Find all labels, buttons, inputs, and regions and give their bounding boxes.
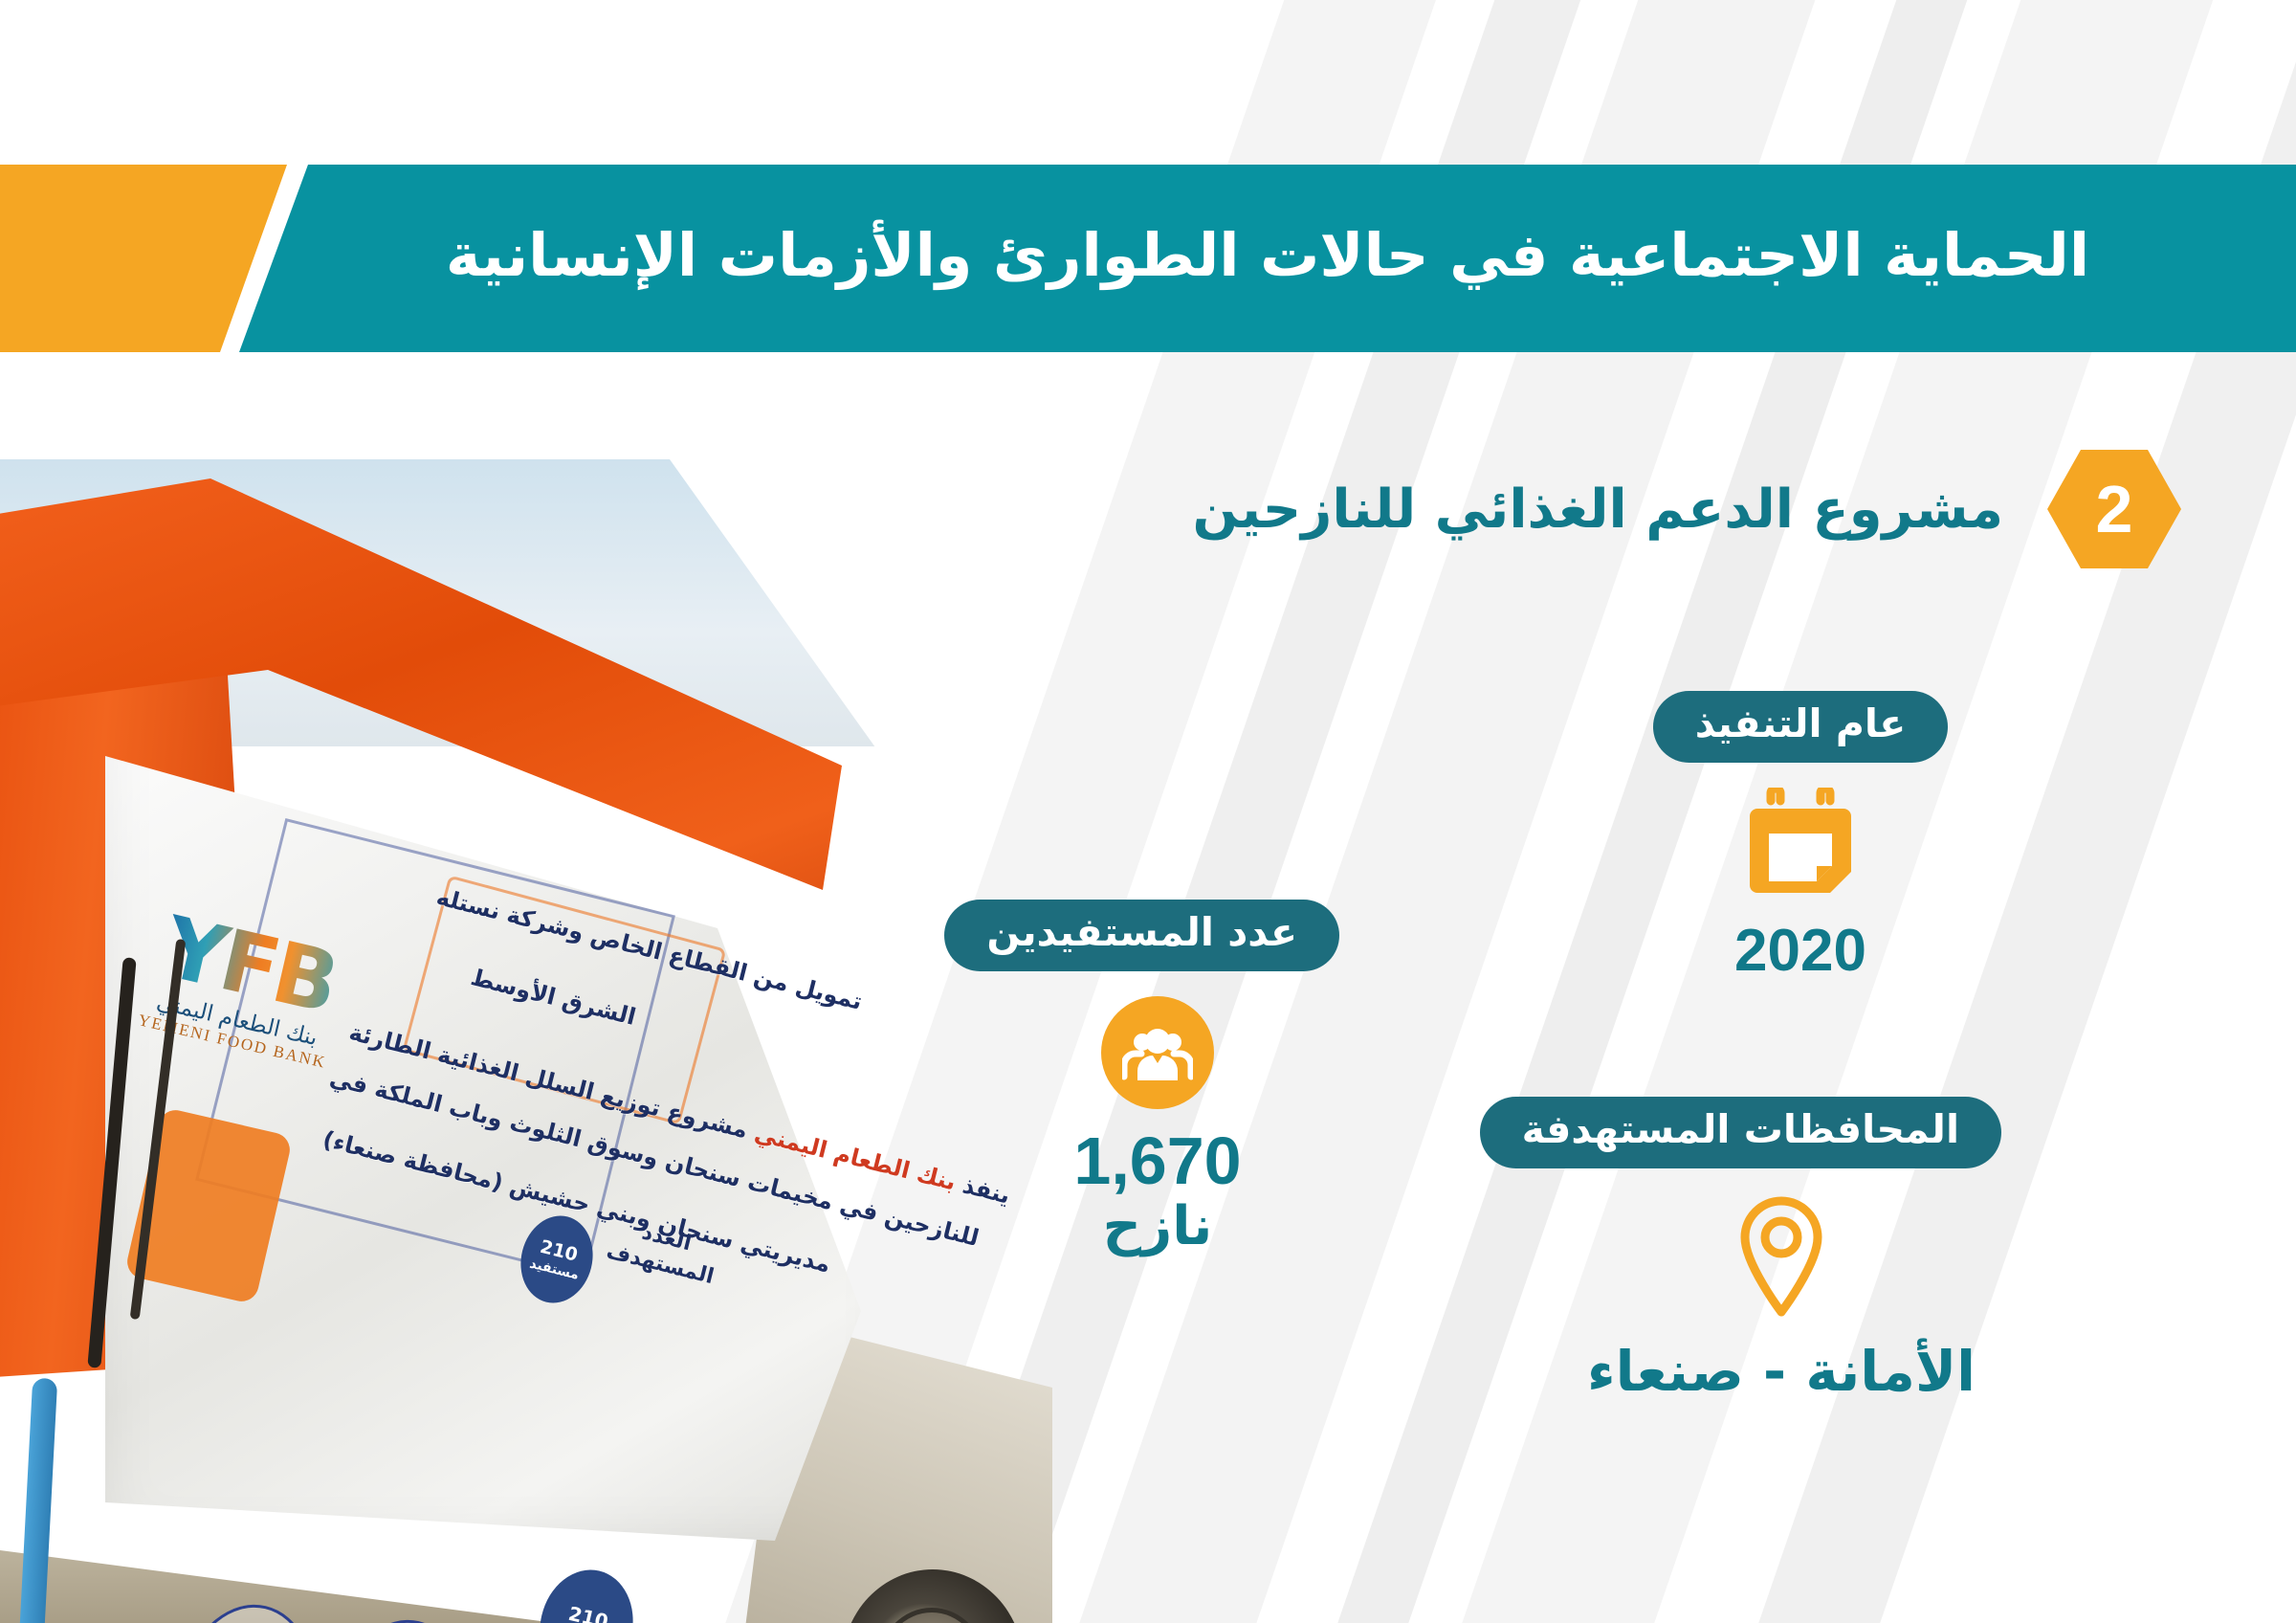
calendar-icon <box>1748 788 1853 900</box>
project-number-badge: 2 <box>2047 450 2181 568</box>
people-icon-row <box>976 996 1339 1109</box>
banner-210-badge: 210 مستفيد <box>529 1561 644 1623</box>
header-banner: الحماية الاجتماعية في حالات الطوارئ والأ… <box>0 165 2296 352</box>
governorates-label: المحافظات المستهدفة <box>1480 1097 2001 1168</box>
beneficiaries-block: عدد المستفيدين 1,670 نازح <box>976 900 1339 1255</box>
year-value: 2020 <box>1600 920 2001 982</box>
targeted-governorates-block: المحافظات المستهدفة الأمانة - صنعاء <box>1561 1097 2001 1401</box>
year-label: عام التنفيذ <box>1653 691 1949 763</box>
project-title: مشروع الدعم الغذائي للنازحين <box>1193 478 2003 541</box>
project-header-row: 2 مشروع الدعم الغذائي للنازحين <box>1193 450 2181 568</box>
year-of-implementation-block: عام التنفيذ 2020 <box>1600 691 2001 982</box>
location-pin-icon <box>1735 1193 1827 1320</box>
calendar-icon-row <box>1600 788 2001 900</box>
header-teal-band: الحماية الاجتماعية في حالات الطوارئ والأ… <box>239 165 2296 352</box>
page-title: الحماية الاجتماعية في حالات الطوارئ والأ… <box>239 165 2296 352</box>
location-pin-icon-row <box>1561 1193 2001 1320</box>
banner-210-value: 210 <box>566 1602 610 1623</box>
beneficiaries-value: 1,670 <box>976 1126 1339 1197</box>
people-icon <box>1122 1023 1193 1082</box>
beneficiaries-label: عدد المستفيدين <box>944 900 1339 971</box>
beneficiaries-unit: نازح <box>976 1199 1339 1256</box>
people-icon-circle <box>1101 996 1214 1109</box>
governorates-value: الأمانة - صنعاء <box>1561 1343 2001 1401</box>
photo-wheel-rim-front <box>878 1608 985 1623</box>
header-orange-accent <box>0 165 287 352</box>
